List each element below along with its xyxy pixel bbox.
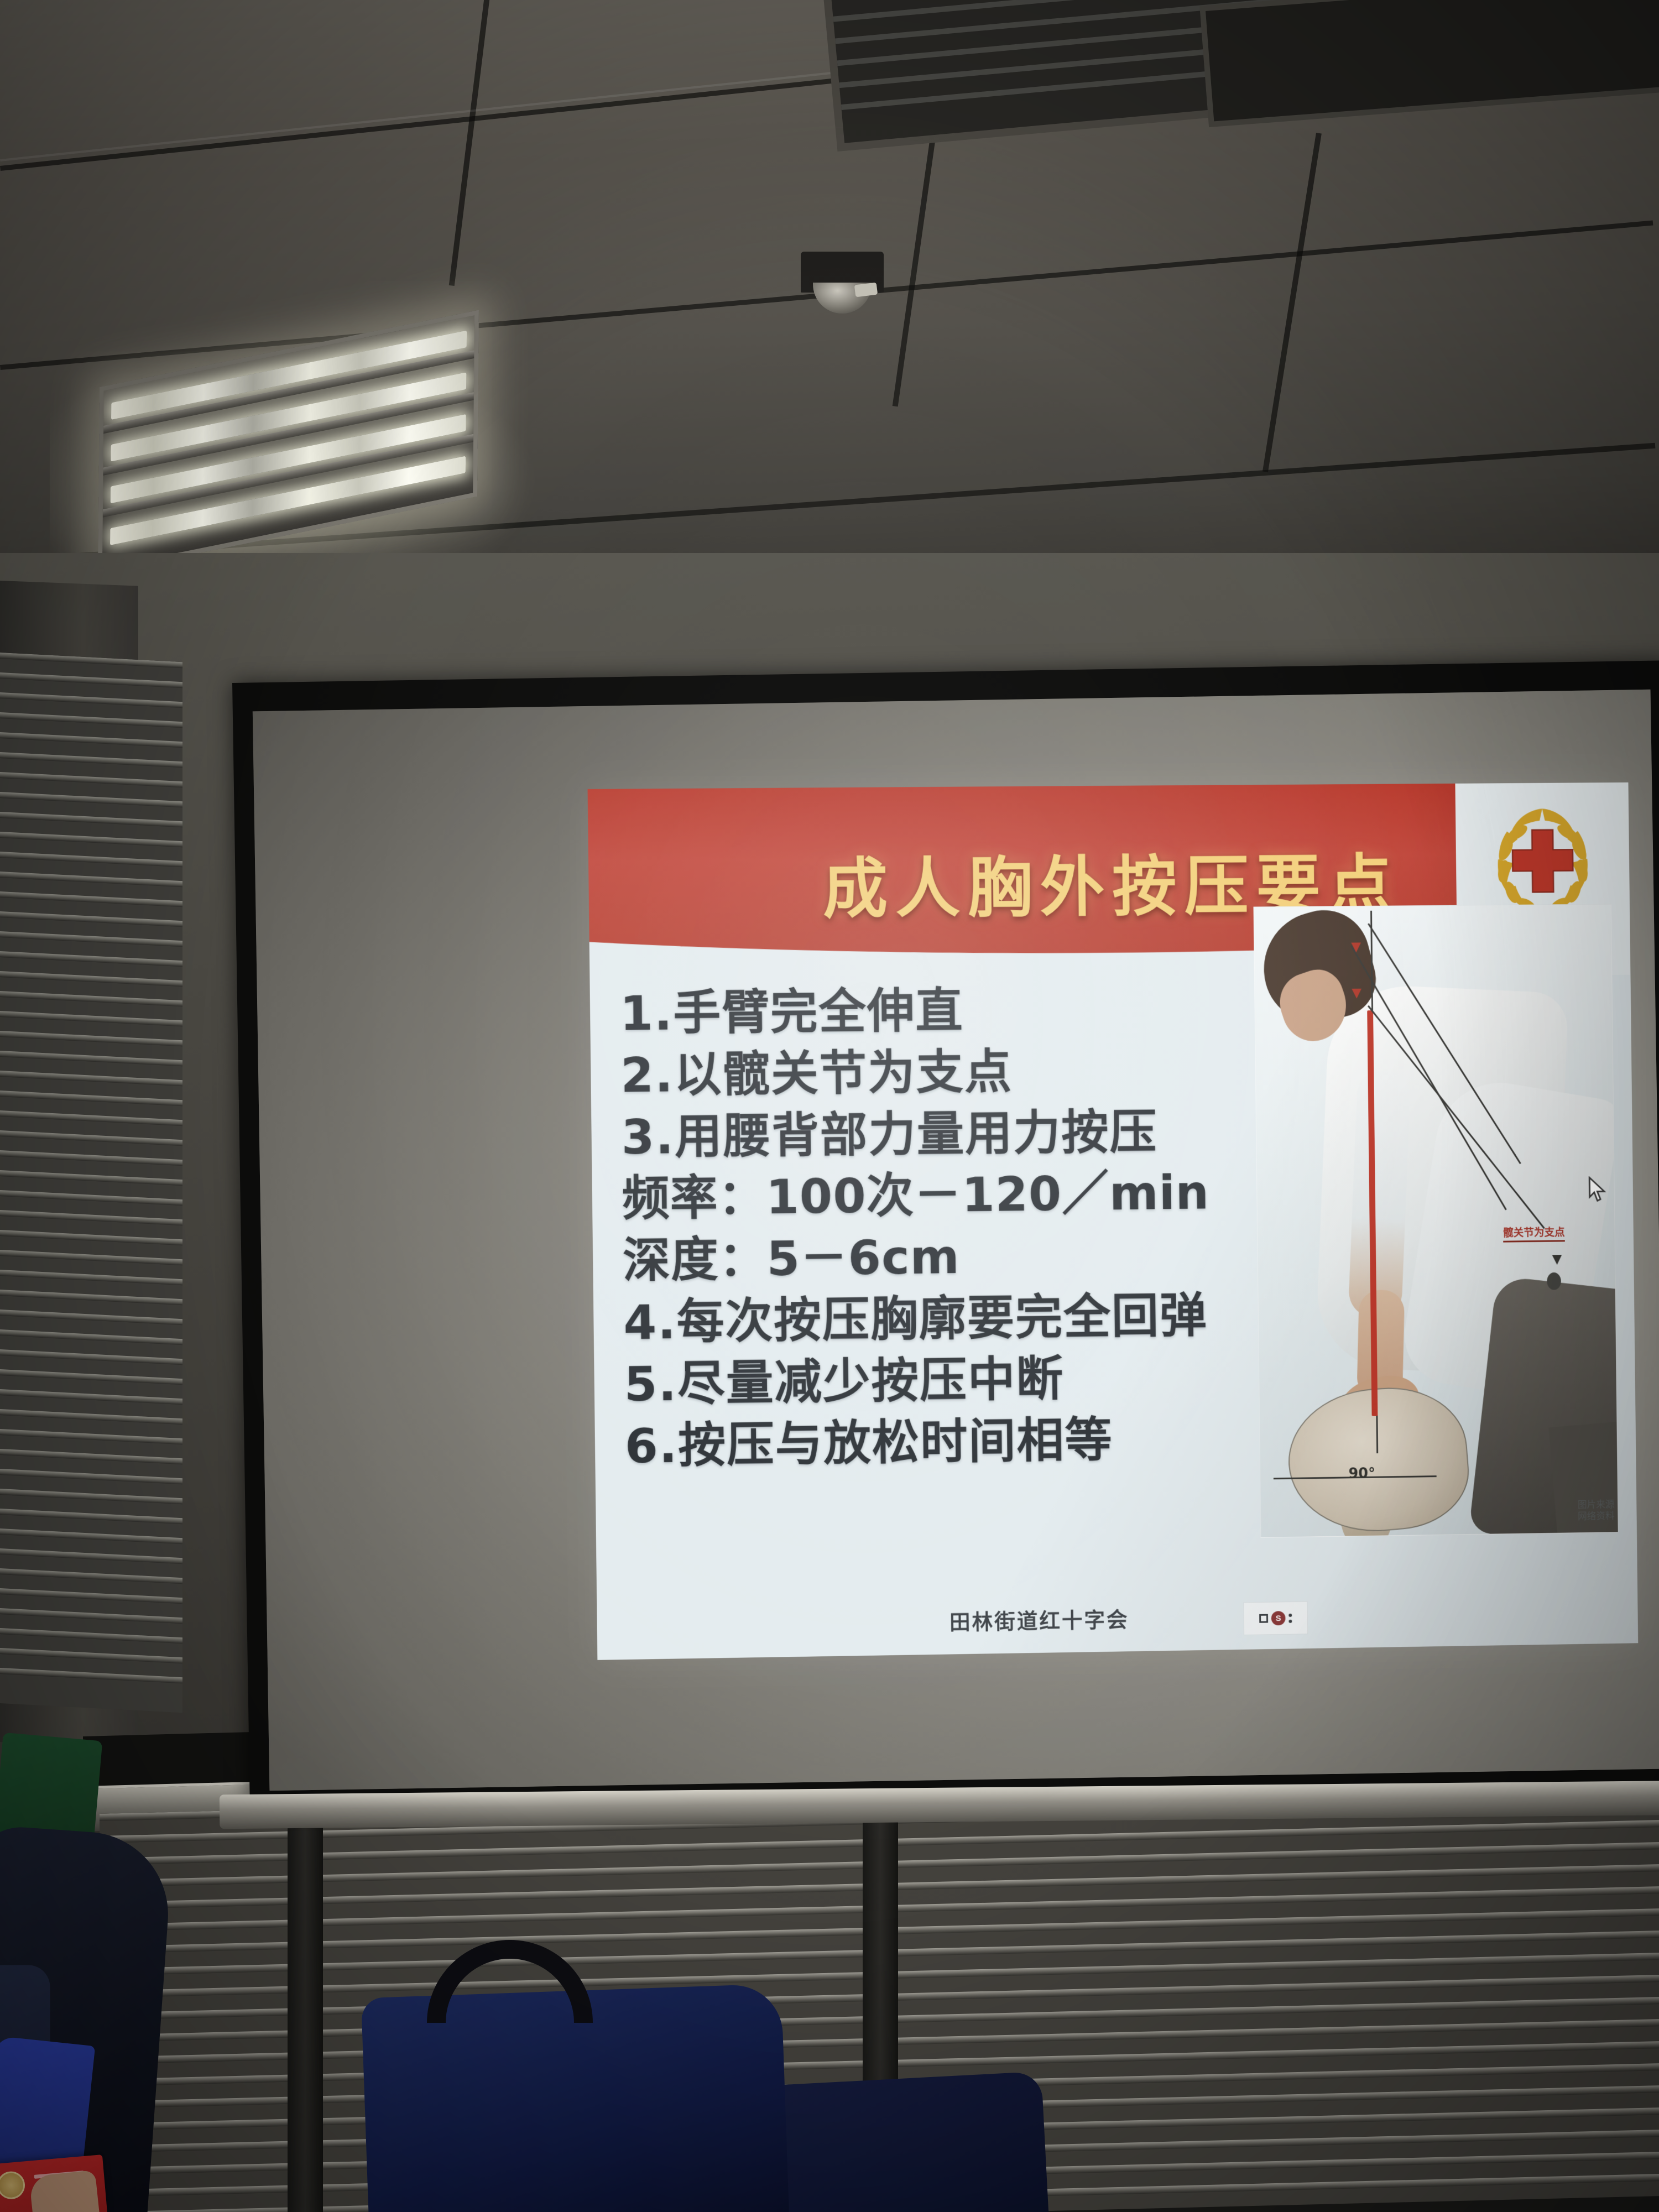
photo-watermark: 图片来源网络资料 [1578,1499,1615,1522]
ceiling [0,0,1659,586]
ceiling-air-vent-secondary [1206,0,1659,121]
smoke-detector [801,252,884,317]
projector-screen: 成人胸外按压要点 [232,660,1659,1833]
slide-body-list: 1.手臂完全伸直 2.以髋关节为支点 3.用腰背部力量用力按压 频率：100次－… [619,978,1305,1478]
body-line: 5.尽量减少按压中断 [624,1345,1304,1416]
body-line: 深度：5－6cm [623,1223,1303,1292]
body-line: 4.每次按压胸廓要完全回弹 [623,1284,1303,1354]
booklet-emblem-icon [0,2171,26,2200]
slide-footer: 田林街道红十字会 [950,1603,1129,1636]
hip-joint-annotation-label: 髋关节为支点 [1503,1224,1565,1243]
dots-icon [1288,1613,1292,1623]
mouse-pointer-icon [1588,1176,1607,1204]
circle-icon: S [1271,1611,1286,1625]
venetian-blinds-left [0,653,182,1713]
cpr-demonstration-photo: 90° 髋关节为支点 图片来源网络资料 [1254,904,1619,1537]
screen-surface: 成人胸外按压要点 [253,690,1659,1791]
body-line: 1.手臂完全伸直 [619,978,1300,1045]
body-line: 2.以髋关节为支点 [620,1039,1301,1107]
slide-status-badge[interactable]: S [1243,1601,1308,1635]
dark-blue-bag [361,1984,789,2212]
square-icon [1259,1614,1268,1623]
red-cross-laurel-emblem [1475,792,1610,919]
room-scene: 成人胸外按压要点 [0,0,1659,2212]
body-line: 频率：100次－120／min [622,1162,1302,1231]
angle-label: 90° [1348,1465,1375,1482]
body-line: 3.用腰背部力量用力按压 [621,1100,1301,1169]
projected-slide: 成人胸外按压要点 [588,782,1639,1660]
body-line: 6.按压与放松时间相等 [624,1407,1305,1478]
